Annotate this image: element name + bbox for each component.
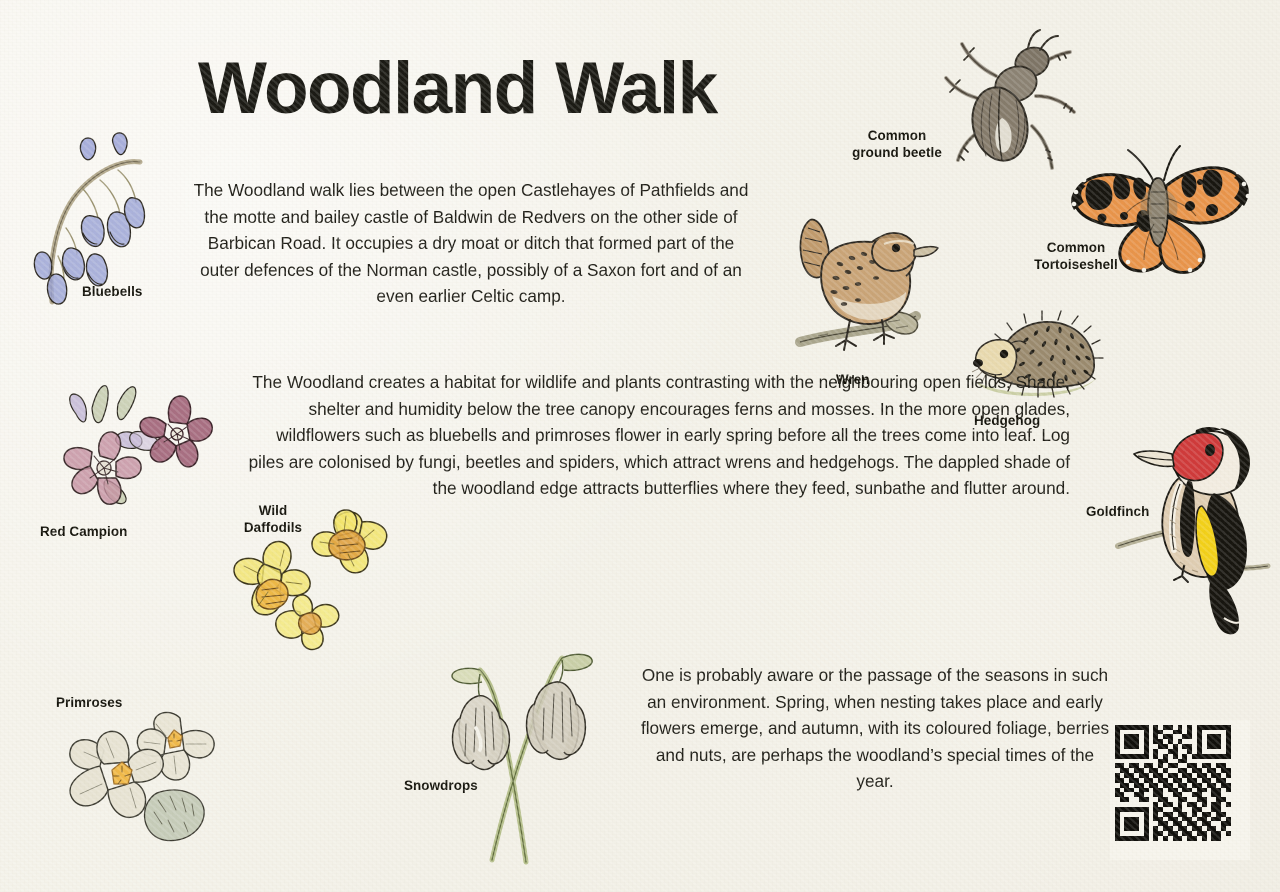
label-wild-daffodils: Wild Daffodils [228, 503, 318, 536]
label-common-ground-beetle: Common ground beetle [838, 128, 956, 161]
paragraph-habitat: The Woodland creates a habitat for wildl… [240, 369, 1070, 502]
paragraph-seasons: One is probably aware or the passage of … [640, 662, 1110, 795]
label-bluebells: Bluebells [82, 284, 142, 301]
bluebells-illustration [22, 132, 182, 307]
paragraph-intro: The Woodland walk lies between the open … [186, 177, 756, 310]
label-common-tortoiseshell: Common Tortoiseshell [1018, 240, 1134, 273]
page-title: Woodland Walk [198, 52, 717, 125]
red-campion-illustration [40, 374, 220, 519]
label-wren: Wren [836, 372, 870, 389]
label-snowdrops: Snowdrops [404, 778, 478, 795]
snowdrops-illustration [430, 608, 610, 868]
goldfinch-illustration [1118, 418, 1280, 638]
poster-board: Woodland Walk The Woodland walk lies bet… [0, 0, 1280, 892]
primroses-illustration [40, 708, 250, 858]
wren-illustration [788, 204, 938, 364]
label-hedgehog: Hedgehog [974, 413, 1040, 430]
label-goldfinch: Goldfinch [1086, 504, 1149, 521]
qr-code[interactable] [1110, 720, 1250, 860]
label-primroses: Primroses [56, 695, 122, 712]
qr-code-grid [1110, 720, 1250, 860]
label-red-campion: Red Campion [40, 524, 127, 541]
